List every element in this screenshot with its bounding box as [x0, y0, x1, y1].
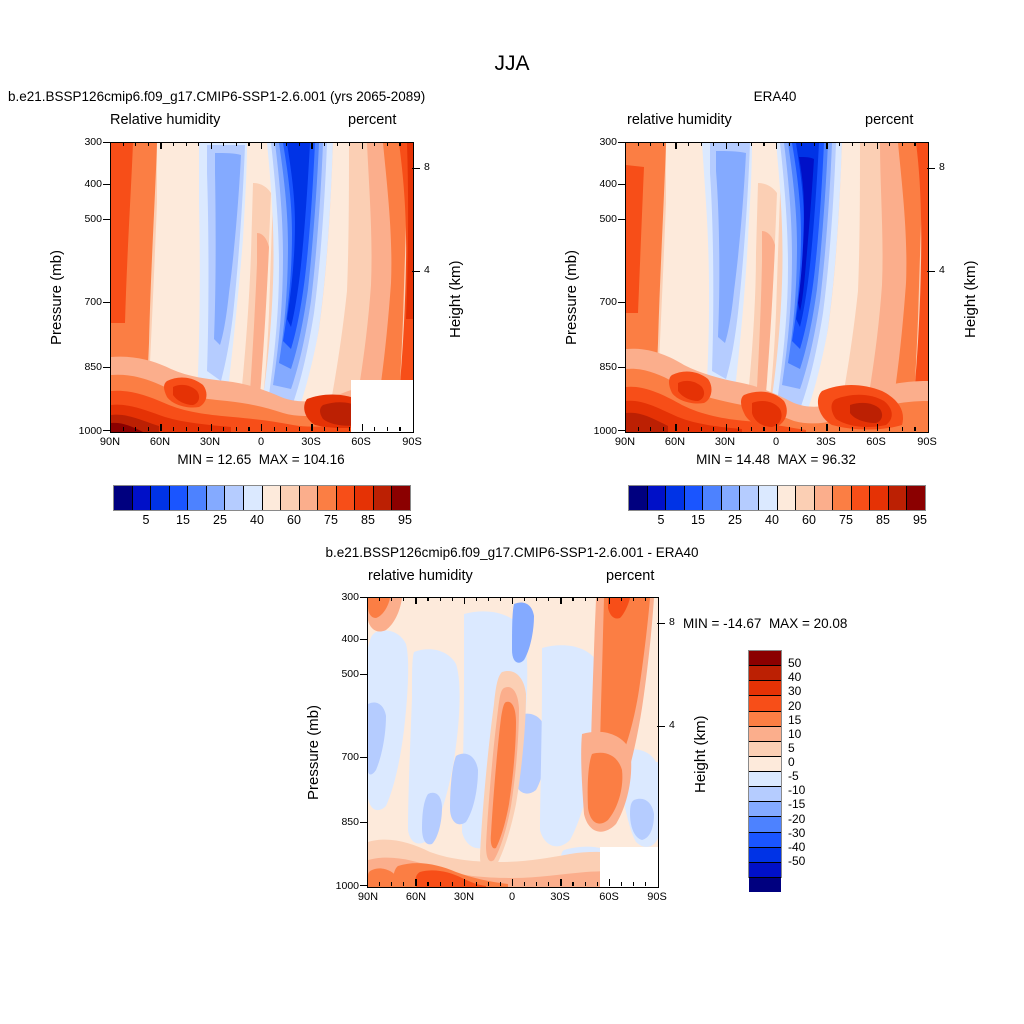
xtick-minor-diff-15: [548, 882, 549, 886]
ytick-model-4: 850: [56, 361, 102, 373]
panel-var-label-diff: relative humidity: [368, 568, 473, 584]
xtick-obs-6: 90S: [905, 436, 949, 448]
xtick-minor-diff-19: [597, 882, 598, 886]
colorbar-cell-4: [703, 486, 722, 510]
colorbar-cell-6: [740, 486, 759, 510]
xtick-minor-model-4: [160, 424, 161, 431]
xtick-model-0: 90N: [88, 436, 132, 448]
xtick-minor-model-9: [223, 142, 224, 146]
rlabel-model: Height (km): [447, 260, 464, 338]
xtick-minor-model-12: [261, 424, 262, 431]
xtick-diff-1: 60N: [394, 891, 438, 903]
colorbar-diff-cell-9: [749, 787, 781, 802]
xtick-minor-diff-9: [476, 882, 477, 886]
panel-title-diff: b.e21.BSSP126cmip6.f09_g17.CMIP6-SSP1-2.…: [212, 545, 812, 560]
rtick-model-1: 4: [424, 264, 430, 276]
colorbar-diff-cell-1: [749, 666, 781, 681]
colorbar-diff-label-9: -10: [788, 783, 805, 797]
xtick-obs-5: 60S: [854, 436, 898, 448]
colorbar-cell-15: [392, 486, 410, 510]
xtick-minor-diff-21: [621, 597, 622, 601]
minmax-diff: MIN = -14.67 MAX = 20.08: [683, 616, 913, 631]
xtick-minor-obs-15: [814, 142, 815, 146]
colorbar-cell-11: [833, 486, 852, 510]
xtick-minor-model-7: [198, 427, 199, 431]
colorbar-diff-label-14: -50: [788, 854, 805, 868]
colorbar-cell-10: [300, 486, 319, 510]
colorbar-cell-1: [133, 486, 152, 510]
xtick-minor-model-5: [173, 427, 174, 431]
colorbar-diff-cell-8: [749, 772, 781, 787]
xtick-minor-obs-9: [738, 142, 739, 146]
xtick-minor-obs-15: [814, 427, 815, 431]
colorbar-cell-14: [374, 486, 393, 510]
ylabel-diff: Pressure (mb): [305, 705, 322, 800]
xtick-minor-diff-14: [536, 882, 537, 886]
ytick-mark-diff-5: [360, 885, 367, 886]
colorbar-diff-label-13: -40: [788, 840, 805, 854]
xtick-minor-diff-6: [440, 882, 441, 886]
xtick-minor-obs-19: [864, 427, 865, 431]
colorbar-diff-label-4: 15: [788, 713, 801, 727]
ytick-mark-diff-4: [360, 822, 367, 823]
ytick-mark-obs-3: [618, 302, 625, 303]
ytick-mark-obs-2: [618, 219, 625, 220]
colorbar-cell-8: [263, 486, 282, 510]
colorbar-diff-cell-5: [749, 727, 781, 742]
xtick-minor-model-20: [362, 424, 363, 431]
xtick-minor-model-6: [186, 142, 187, 146]
xtick-minor-model-8: [211, 424, 212, 431]
xtick-minor-diff-3: [403, 597, 404, 601]
colorbar-diff-cell-11: [749, 817, 781, 832]
colorbar-cell-4: [188, 486, 207, 510]
xtick-minor-diff-16: [560, 879, 561, 886]
colorbar-cell-5: [207, 486, 226, 510]
xtick-minor-diff-23: [645, 597, 646, 601]
ytick-model-2: 500: [56, 213, 102, 225]
xtick-minor-diff-19: [597, 597, 598, 601]
colorbar-diff-cell-10: [749, 802, 781, 817]
xtick-minor-obs-3: [663, 427, 664, 431]
xtick-minor-model-23: [399, 427, 400, 431]
xtick-minor-diff-21: [621, 882, 622, 886]
panel-title-model: b.e21.BSSP126cmip6.f09_g17.CMIP6-SSP1-2.…: [8, 89, 425, 104]
cbar-model-label-1: 15: [165, 513, 201, 527]
xtick-diff-6: 90S: [635, 891, 679, 903]
xtick-minor-obs-6: [701, 427, 702, 431]
xtick-minor-obs-4: [675, 424, 676, 431]
missing-data-block-model: [351, 380, 413, 432]
xtick-minor-model-18: [337, 427, 338, 431]
colorbar-cell-13: [355, 486, 374, 510]
xtick-minor-obs-4: [675, 142, 676, 149]
ytick-mark-obs-1: [618, 184, 625, 185]
panel-title-obs: ERA40: [625, 89, 925, 104]
xtick-diff-2: 30N: [442, 891, 486, 903]
panel-units-label-obs: percent: [865, 112, 913, 128]
xtick-minor-model-3: [148, 142, 149, 146]
contour-field-obs: [626, 143, 928, 432]
xtick-minor-diff-12: [512, 879, 513, 886]
xtick-minor-obs-1: [638, 142, 639, 146]
ytick-mark-model-0: [103, 142, 110, 143]
xtick-minor-diff-6: [440, 597, 441, 601]
xtick-minor-model-8: [211, 142, 212, 149]
rtick-obs-0: 8: [939, 161, 945, 173]
xtick-minor-model-10: [236, 142, 237, 146]
cbar-obs-label-0: 5: [643, 513, 679, 527]
xtick-minor-obs-7: [713, 427, 714, 431]
colorbar-cell-2: [666, 486, 685, 510]
ytick-obs-2: 500: [571, 213, 617, 225]
ytick-diff-1: 400: [313, 633, 359, 645]
cbar-obs-label-2: 25: [717, 513, 753, 527]
xtick-minor-diff-11: [500, 882, 501, 886]
ytick-mark-diff-0: [360, 597, 367, 598]
xtick-minor-model-11: [248, 142, 249, 146]
xtick-obs-3: 0: [754, 436, 798, 448]
xtick-minor-diff-4: [415, 597, 416, 604]
max-diff: MAX = 20.08: [769, 616, 847, 631]
xtick-minor-model-5: [173, 142, 174, 146]
xtick-minor-obs-14: [801, 427, 802, 431]
colorbar-obs[interactable]: [628, 485, 926, 511]
xtick-minor-diff-14: [536, 597, 537, 601]
xtick-minor-model-20: [362, 142, 363, 149]
cbar-obs-label-4: 60: [791, 513, 827, 527]
ytick-mark-diff-2: [360, 674, 367, 675]
xtick-obs-2: 30N: [703, 436, 747, 448]
xtick-minor-obs-21: [889, 427, 890, 431]
xtick-minor-model-22: [387, 427, 388, 431]
xtick-minor-model-16: [311, 142, 312, 149]
xtick-minor-diff-1: [379, 882, 380, 886]
ytick-mark-model-2: [103, 219, 110, 220]
rlabel-diff: Height (km): [692, 715, 709, 793]
xtick-minor-obs-21: [889, 142, 890, 146]
xtick-minor-obs-19: [864, 142, 865, 146]
xtick-minor-model-10: [236, 427, 237, 431]
colorbar-diff[interactable]: [748, 650, 782, 878]
xtick-minor-diff-15: [548, 597, 549, 601]
rtick-mark-diff-0: [657, 623, 665, 624]
xtick-minor-obs-7: [713, 142, 714, 146]
xtick-minor-obs-6: [701, 142, 702, 146]
xtick-minor-diff-13: [524, 882, 525, 886]
colorbar-cell-12: [852, 486, 871, 510]
xtick-minor-model-6: [186, 427, 187, 431]
colorbar-cell-9: [281, 486, 300, 510]
xtick-minor-diff-20: [609, 597, 610, 604]
xtick-minor-model-21: [374, 142, 375, 146]
xtick-obs-1: 60N: [653, 436, 697, 448]
xtick-minor-obs-13: [789, 427, 790, 431]
colorbar-diff-label-10: -15: [788, 797, 805, 811]
cbar-model-label-6: 85: [350, 513, 386, 527]
xtick-minor-diff-20: [609, 879, 610, 886]
xtick-minor-obs-20: [877, 142, 878, 149]
cbar-obs-label-1: 15: [680, 513, 716, 527]
max-model: MAX = 104.16: [259, 452, 345, 467]
xtick-minor-model-12: [261, 142, 262, 149]
xtick-minor-diff-17: [572, 597, 573, 601]
xtick-minor-model-17: [324, 142, 325, 146]
xtick-minor-model-9: [223, 427, 224, 431]
rtick-mark-obs-1: [927, 271, 935, 272]
cbar-model-label-7: 95: [387, 513, 423, 527]
xtick-model-1: 60N: [138, 436, 182, 448]
ytick-mark-obs-0: [618, 142, 625, 143]
xtick-minor-obs-5: [688, 142, 689, 146]
colorbar-cell-14: [889, 486, 908, 510]
xtick-minor-obs-9: [738, 427, 739, 431]
colorbar-diff-cell-2: [749, 681, 781, 696]
xtick-minor-model-11: [248, 427, 249, 431]
xtick-minor-model-7: [198, 142, 199, 146]
xtick-minor-obs-12: [776, 142, 777, 149]
colorbar-cell-5: [722, 486, 741, 510]
colorbar-cell-12: [337, 486, 356, 510]
xtick-minor-model-19: [349, 427, 350, 431]
ytick-obs-0: 300: [571, 136, 617, 148]
xtick-minor-obs-13: [789, 142, 790, 146]
cbar-obs-label-6: 85: [865, 513, 901, 527]
colorbar-diff-label-3: 20: [788, 699, 801, 713]
ytick-mark-model-3: [103, 302, 110, 303]
rtick-mark-diff-1: [657, 726, 665, 727]
xtick-minor-obs-18: [852, 142, 853, 146]
xtick-minor-diff-10: [488, 597, 489, 601]
xtick-minor-diff-1: [379, 597, 380, 601]
xtick-minor-obs-11: [763, 427, 764, 431]
xtick-minor-diff-8: [464, 879, 465, 886]
ylabel-model: Pressure (mb): [48, 250, 65, 345]
xtick-model-2: 30N: [188, 436, 232, 448]
xtick-minor-obs-16: [826, 142, 827, 149]
rtick-obs-1: 4: [939, 264, 945, 276]
colorbar-cell-0: [114, 486, 133, 510]
xtick-model-3: 0: [239, 436, 283, 448]
xtick-minor-model-13: [274, 427, 275, 431]
xtick-diff-4: 30S: [538, 891, 582, 903]
xtick-minor-model-2: [135, 142, 136, 146]
ytick-diff-4: 850: [313, 816, 359, 828]
xtick-minor-diff-17: [572, 882, 573, 886]
rtick-mark-model-1: [412, 271, 420, 272]
colorbar-cell-15: [907, 486, 925, 510]
colorbar-diff-label-11: -20: [788, 812, 805, 826]
xtick-minor-model-22: [387, 142, 388, 146]
xtick-minor-diff-7: [452, 882, 453, 886]
xtick-minor-model-23: [399, 142, 400, 146]
xtick-minor-diff-8: [464, 597, 465, 604]
xtick-minor-diff-22: [633, 597, 634, 601]
xtick-minor-diff-10: [488, 882, 489, 886]
xtick-minor-obs-5: [688, 427, 689, 431]
season-title: JJA: [0, 52, 1024, 76]
xtick-minor-obs-17: [839, 142, 840, 146]
ylabel-obs: Pressure (mb): [563, 250, 580, 345]
colorbar-diff-label-2: 30: [788, 684, 801, 698]
plot-area-model[interactable]: [110, 142, 414, 433]
colorbar-model[interactable]: [113, 485, 411, 511]
xtick-minor-diff-9: [476, 597, 477, 601]
ytick-obs-1: 400: [571, 178, 617, 190]
ytick-model-0: 300: [56, 136, 102, 148]
colorbar-diff-cell-0: [749, 651, 781, 666]
colorbar-diff-cell-7: [749, 757, 781, 772]
xtick-minor-diff-23: [645, 882, 646, 886]
xtick-minor-diff-5: [427, 597, 428, 601]
xtick-minor-obs-18: [852, 427, 853, 431]
ytick-mark-obs-5: [618, 430, 625, 431]
xtick-minor-obs-16: [826, 424, 827, 431]
rlabel-obs: Height (km): [962, 260, 979, 338]
xtick-minor-model-15: [299, 142, 300, 146]
colorbar-diff-label-12: -30: [788, 826, 805, 840]
xtick-minor-obs-11: [763, 142, 764, 146]
colorbar-diff-label-5: 10: [788, 727, 801, 741]
xtick-minor-model-19: [349, 142, 350, 146]
xtick-minor-model-2: [135, 427, 136, 431]
xtick-model-6: 90S: [390, 436, 434, 448]
rtick-diff-1: 4: [669, 719, 675, 731]
ytick-mark-model-1: [103, 184, 110, 185]
xtick-minor-diff-4: [415, 879, 416, 886]
ytick-mark-model-4: [103, 367, 110, 368]
colorbar-cell-9: [796, 486, 815, 510]
xtick-minor-obs-22: [902, 427, 903, 431]
ytick-diff-0: 300: [313, 591, 359, 603]
rtick-model-0: 8: [424, 161, 430, 173]
xtick-minor-diff-11: [500, 597, 501, 601]
colorbar-diff-cell-4: [749, 712, 781, 727]
xtick-minor-model-18: [337, 142, 338, 146]
ytick-mark-diff-3: [360, 757, 367, 758]
colorbar-cell-0: [629, 486, 648, 510]
rtick-mark-obs-0: [927, 168, 935, 169]
xtick-minor-obs-8: [726, 142, 727, 149]
xtick-minor-diff-16: [560, 597, 561, 604]
cbar-obs-label-7: 95: [902, 513, 938, 527]
xtick-minor-diff-22: [633, 882, 634, 886]
xtick-diff-5: 60S: [587, 891, 631, 903]
xtick-minor-obs-14: [801, 142, 802, 146]
xtick-minor-diff-12: [512, 597, 513, 604]
plot-area-obs[interactable]: [625, 142, 929, 433]
ytick-mark-model-5: [103, 430, 110, 431]
xtick-minor-obs-3: [663, 142, 664, 146]
colorbar-diff-label-6: 5: [788, 741, 795, 755]
cbar-model-label-3: 40: [239, 513, 275, 527]
xtick-minor-model-1: [123, 427, 124, 431]
rtick-mark-model-0: [412, 168, 420, 169]
max-obs: MAX = 96.32: [778, 452, 856, 467]
contour-field-diff: [368, 598, 658, 887]
colorbar-cell-3: [685, 486, 704, 510]
xtick-minor-diff-7: [452, 597, 453, 601]
xtick-minor-obs-23: [914, 142, 915, 146]
xtick-minor-obs-23: [914, 427, 915, 431]
colorbar-diff-label-1: 40: [788, 670, 801, 684]
xtick-obs-0: 90N: [603, 436, 647, 448]
colorbar-diff-cell-14: [749, 863, 781, 878]
xtick-minor-diff-18: [585, 882, 586, 886]
xtick-minor-diff-18: [585, 597, 586, 601]
xtick-minor-diff-5: [427, 882, 428, 886]
cbar-model-label-4: 60: [276, 513, 312, 527]
colorbar-cell-7: [244, 486, 263, 510]
colorbar-cell-13: [870, 486, 889, 510]
colorbar-diff-label-7: 0: [788, 755, 795, 769]
xtick-minor-obs-8: [726, 424, 727, 431]
xtick-minor-model-21: [374, 427, 375, 431]
colorbar-diff-label-8: -5: [788, 769, 799, 783]
xtick-minor-obs-10: [751, 427, 752, 431]
ytick-model-1: 400: [56, 178, 102, 190]
colorbar-cell-10: [815, 486, 834, 510]
xtick-minor-model-16: [311, 424, 312, 431]
ytick-mark-obs-4: [618, 367, 625, 368]
cbar-obs-label-3: 40: [754, 513, 790, 527]
xtick-minor-model-4: [160, 142, 161, 149]
colorbar-cell-6: [225, 486, 244, 510]
min-obs: MIN = 14.48: [696, 452, 770, 467]
minmax-obs: MIN = 14.48 MAX = 96.32: [625, 452, 927, 467]
xtick-minor-model-15: [299, 427, 300, 431]
colorbar-diff-cell-13: [749, 848, 781, 863]
panel-units-label-model: percent: [348, 112, 396, 128]
colorbar-diff-label-0: 50: [788, 656, 801, 670]
colorbar-cell-11: [318, 486, 337, 510]
colorbar-cell-2: [151, 486, 170, 510]
cbar-model-label-5: 75: [313, 513, 349, 527]
xtick-minor-model-1: [123, 142, 124, 146]
colorbar-cell-1: [648, 486, 667, 510]
xtick-obs-4: 30S: [804, 436, 848, 448]
xtick-minor-obs-2: [650, 142, 651, 146]
xtick-model-5: 60S: [339, 436, 383, 448]
cbar-obs-label-5: 75: [828, 513, 864, 527]
xtick-minor-diff-13: [524, 597, 525, 601]
xtick-minor-diff-2: [391, 882, 392, 886]
xtick-diff-0: 90N: [346, 891, 390, 903]
xtick-minor-model-14: [286, 142, 287, 146]
cbar-model-label-2: 25: [202, 513, 238, 527]
rtick-diff-0: 8: [669, 616, 675, 628]
colorbar-diff-cell-15: [749, 878, 781, 892]
cbar-model-label-0: 5: [128, 513, 164, 527]
colorbar-diff-cell-12: [749, 833, 781, 848]
panel-units-label-diff: percent: [606, 568, 654, 584]
xtick-minor-obs-20: [877, 424, 878, 431]
xtick-minor-obs-1: [638, 427, 639, 431]
xtick-minor-obs-2: [650, 427, 651, 431]
colorbar-diff-cell-3: [749, 696, 781, 711]
xtick-minor-diff-2: [391, 597, 392, 601]
min-diff: MIN = -14.67: [683, 616, 761, 631]
xtick-model-4: 30S: [289, 436, 333, 448]
xtick-minor-obs-12: [776, 424, 777, 431]
xtick-minor-model-3: [148, 427, 149, 431]
plot-area-diff[interactable]: [367, 597, 659, 888]
xtick-diff-3: 0: [490, 891, 534, 903]
xtick-minor-obs-22: [902, 142, 903, 146]
xtick-minor-diff-3: [403, 882, 404, 886]
panel-var-label-model: Relative humidity: [110, 112, 220, 128]
ytick-diff-2: 500: [313, 668, 359, 680]
